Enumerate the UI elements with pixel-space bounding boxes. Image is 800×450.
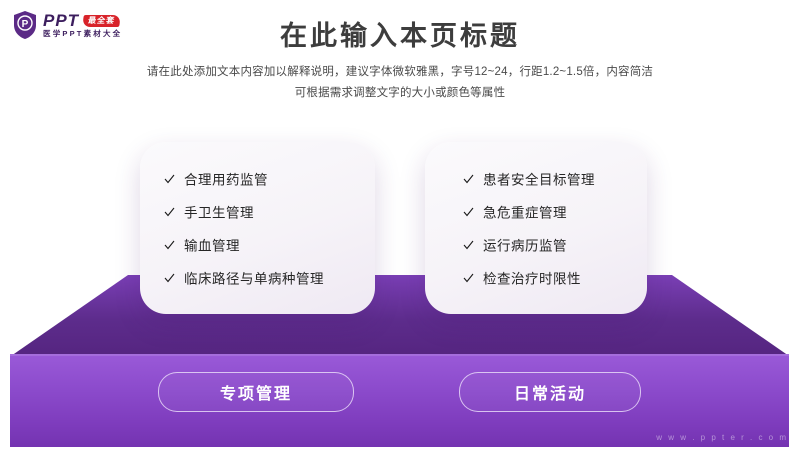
list-item-label: 急危重症管理 (483, 202, 567, 222)
check-icon (463, 239, 474, 250)
list-item-label: 检查治疗时限性 (483, 268, 581, 288)
list-item: 输血管理 (164, 235, 375, 255)
card-daily-activity[interactable]: 患者安全目标管理 急危重症管理 运行病历监管 检查治疗时限性 (425, 142, 647, 314)
podium-top-surface (0, 268, 800, 358)
list-item: 运行病历监管 (463, 235, 647, 255)
check-icon (164, 173, 175, 184)
list-item: 手卫生管理 (164, 202, 375, 222)
subtitle-line-2: 可根据需求调整文字的大小或颜色等属性 (90, 83, 710, 104)
check-icon (164, 206, 175, 217)
card-right-list: 患者安全目标管理 急危重症管理 运行病历监管 检查治疗时限性 (425, 169, 647, 288)
list-item-label: 患者安全目标管理 (483, 169, 595, 189)
list-item: 患者安全目标管理 (463, 169, 647, 189)
page-subtitle: 请在此处添加文本内容加以解释说明，建议字体微软雅黑，字号12~24，行距1.2~… (90, 62, 710, 105)
site-watermark: w w w . p p t e r . c o m (656, 433, 788, 442)
subtitle-line-1: 请在此处添加文本内容加以解释说明，建议字体微软雅黑，字号12~24，行距1.2~… (90, 62, 710, 83)
pill-daily-activity[interactable]: 日常活动 (459, 372, 641, 412)
page-title: 在此输入本页标题 (0, 14, 800, 53)
card-left-list: 合理用药监管 手卫生管理 输血管理 临床路径与单病种管理 (140, 169, 375, 288)
check-icon (463, 206, 474, 217)
list-item: 急危重症管理 (463, 202, 647, 222)
card-special-management[interactable]: 合理用药监管 手卫生管理 输血管理 临床路径与单病种管理 (140, 142, 375, 314)
list-item-label: 输血管理 (184, 235, 240, 255)
list-item-label: 临床路径与单病种管理 (184, 268, 324, 288)
list-item-label: 运行病历监管 (483, 235, 567, 255)
list-item: 检查治疗时限性 (463, 268, 647, 288)
check-icon (463, 173, 474, 184)
pill-special-management[interactable]: 专项管理 (158, 372, 354, 412)
list-item-label: 合理用药监管 (184, 169, 268, 189)
list-item-label: 手卫生管理 (184, 202, 254, 222)
check-icon (463, 272, 474, 283)
list-item: 临床路径与单病种管理 (164, 268, 375, 288)
podium-3d (0, 268, 800, 450)
check-icon (164, 239, 175, 250)
check-icon (164, 272, 175, 283)
list-item: 合理用药监管 (164, 169, 375, 189)
slide-canvas: P PPT 最全套 医学PPT素材大全 在此输入本页标题 请在此处添加文本内容加… (0, 0, 800, 450)
